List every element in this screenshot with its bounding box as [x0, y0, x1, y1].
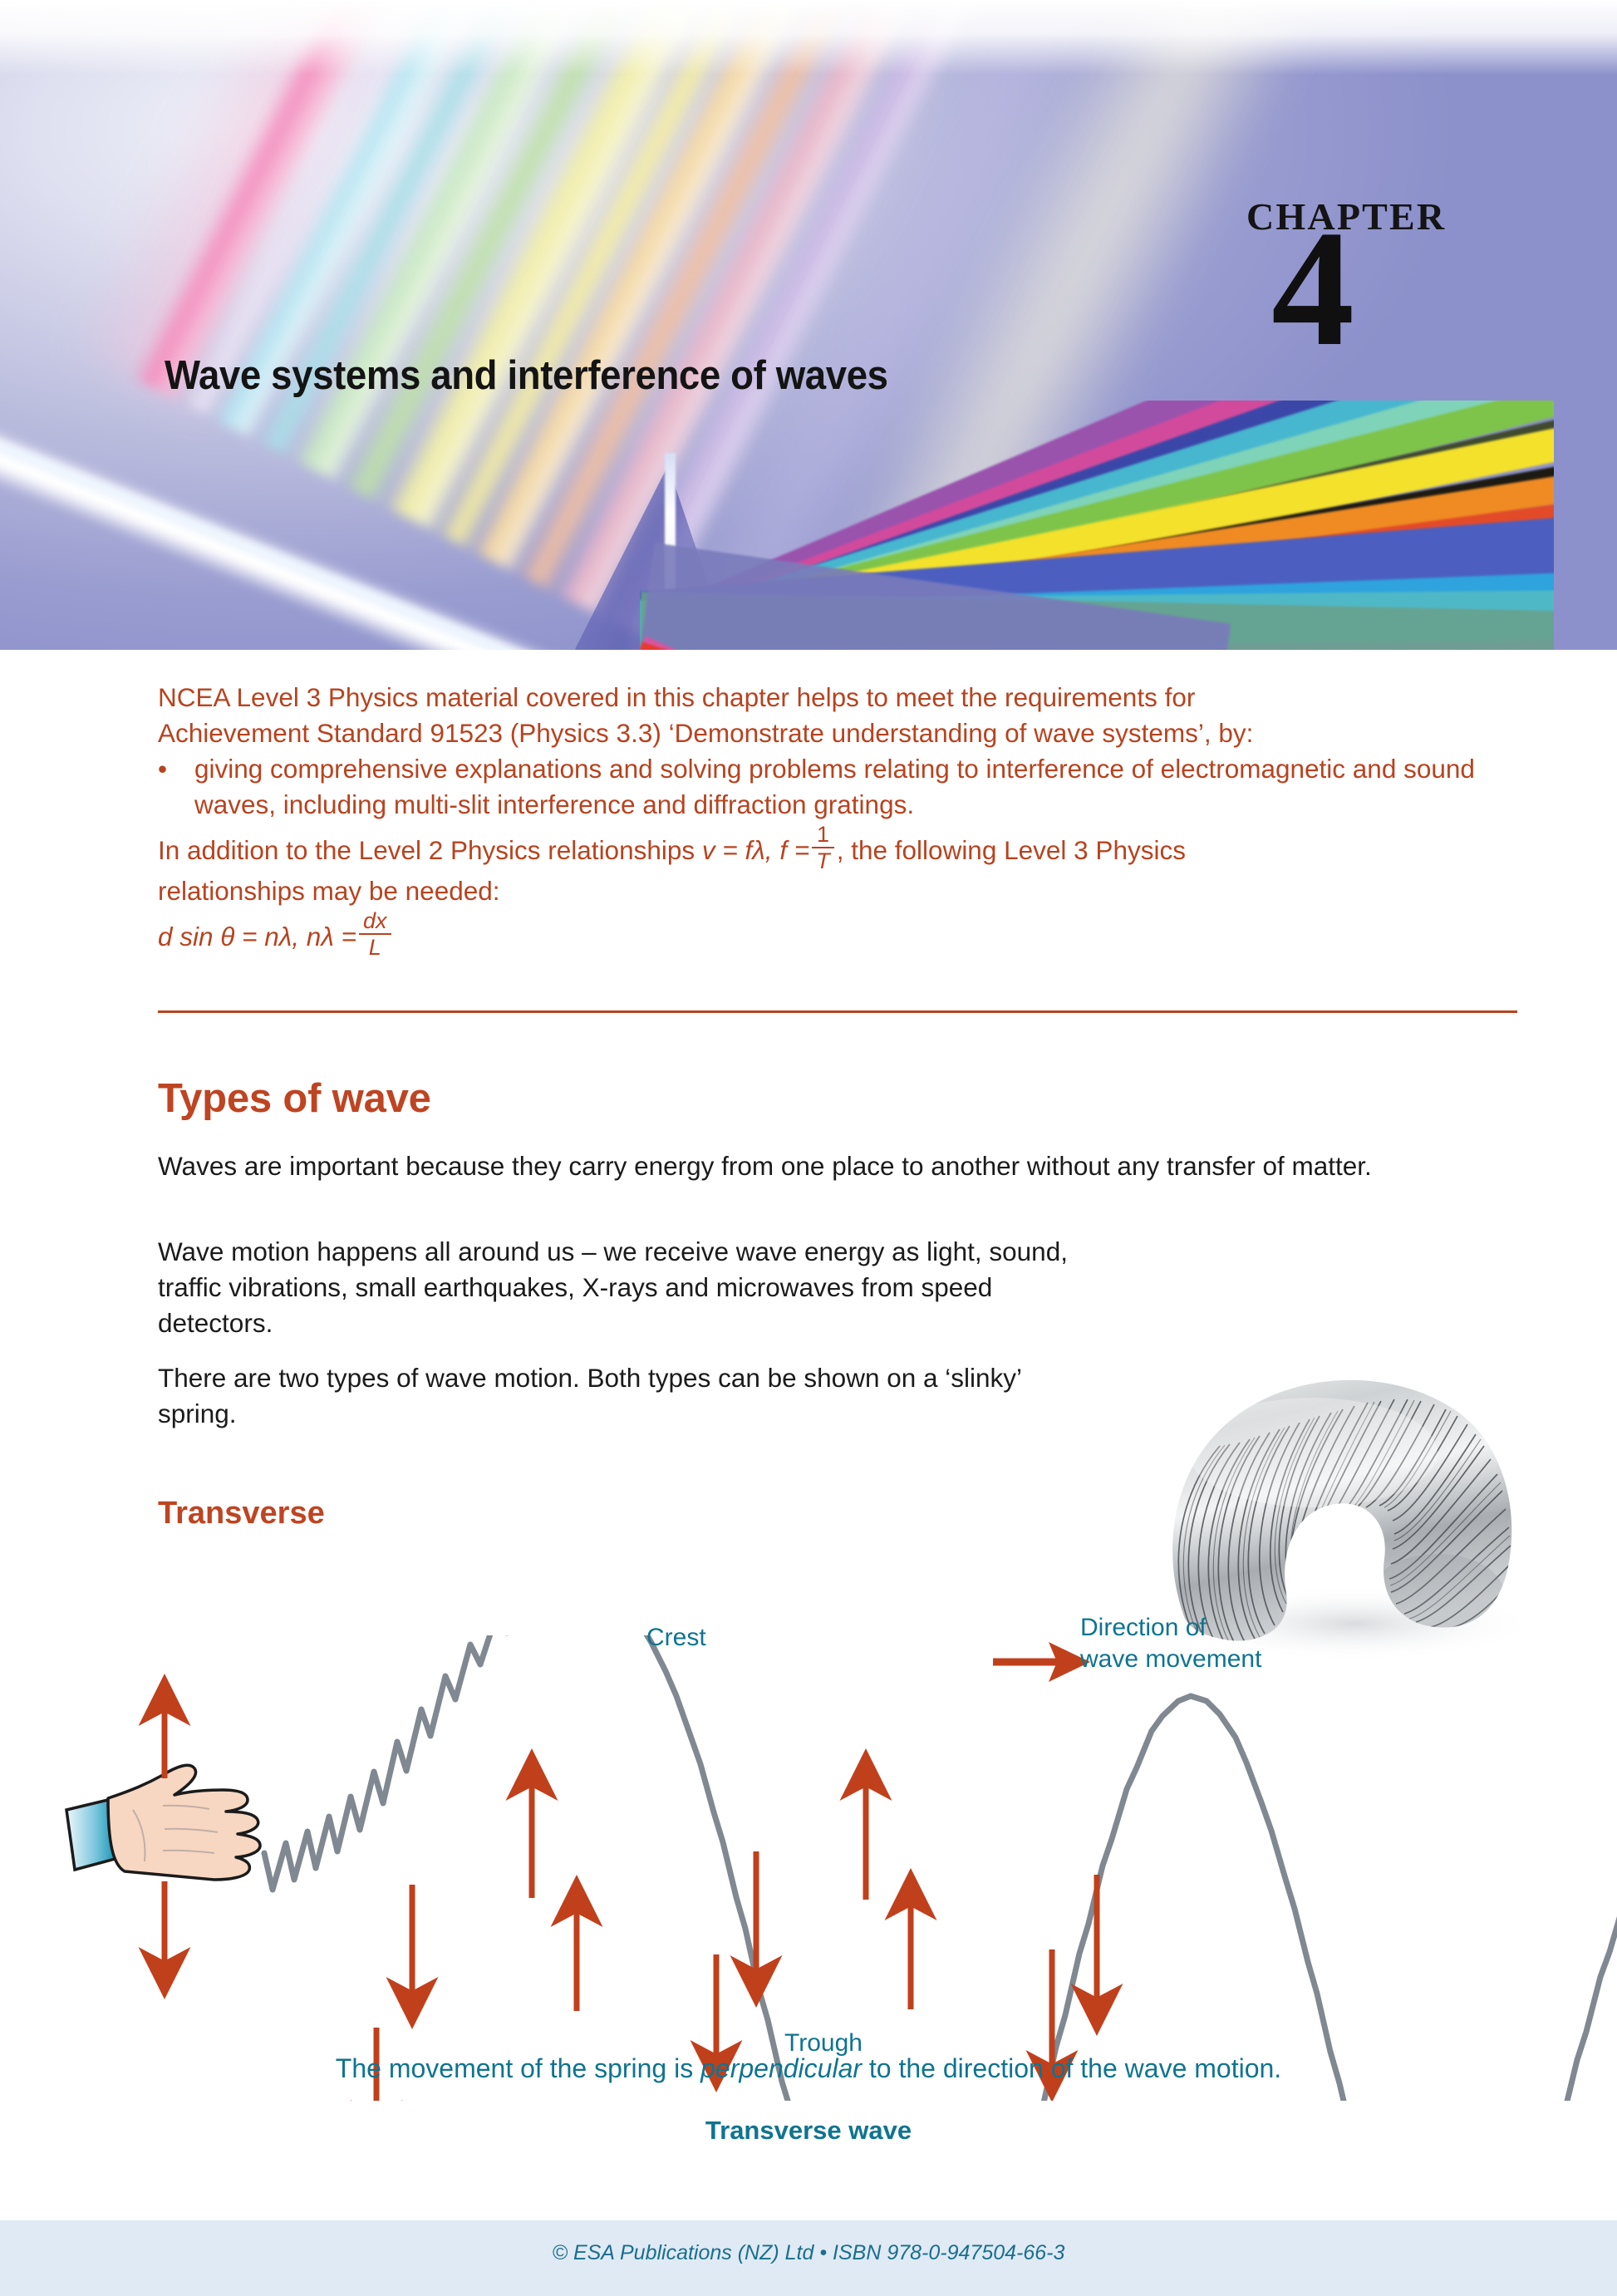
intro-line-2: Achievement Standard 91523 (Physics 3.3)…	[158, 715, 1521, 751]
fraction-one-over-T: 1T	[812, 823, 834, 873]
diagram-caption-title: Transverse wave	[0, 2116, 1617, 2146]
formula-d-sin-theta: d sin θ = nλ, nλ =	[158, 922, 356, 951]
dispersed-spectrum-fan	[640, 401, 1554, 650]
paragraph-two-types: There are two types of wave motion. Both…	[158, 1360, 1105, 1432]
subheading-transverse: Transverse	[158, 1496, 325, 1531]
transverse-wave-diagram: Crest Trough Direction of wave movement	[0, 1635, 1617, 2101]
standard-requirements-block: NCEA Level 3 Physics material covered in…	[158, 680, 1521, 959]
bullet-dot-icon: •	[158, 751, 194, 823]
formula-v-equals-f-lambda: v = fλ,	[702, 835, 773, 865]
chapter-banner: CHAPTER 4 Wave systems and interference …	[0, 0, 1617, 650]
slinky-wave-path	[264, 1635, 1617, 2101]
caption-part-2: to the direction of the wave motion.	[862, 2053, 1281, 2083]
relationships-paragraph: In addition to the Level 2 Physics relat…	[158, 823, 1521, 873]
paragraph-wave-motion: Wave motion happens all around us – we r…	[158, 1234, 1105, 1341]
formula-line: d sin θ = nλ, nλ =dxL	[158, 909, 1521, 960]
footer-copyright: © ESA Publications (NZ) Ltd • ISBN 978-0…	[0, 2241, 1617, 2265]
fraction-denominator-L: L	[359, 935, 391, 959]
chapter-number: 4	[1271, 206, 1354, 372]
intro-bullet-text: giving comprehensive explanations and so…	[194, 751, 1521, 823]
label-direction-line-1: Direction of	[1080, 1612, 1261, 1644]
label-direction-line-2: wave movement	[1080, 1644, 1261, 1675]
intro-bullet-item: • giving comprehensive explanations and …	[158, 751, 1521, 823]
diagram-caption-sentence: The movement of the spring is perpendicu…	[0, 2053, 1617, 2084]
fraction-numerator-dx: dx	[359, 909, 391, 935]
fraction-dx-over-L: dxL	[359, 909, 391, 960]
paragraph-waves-important: Waves are important because they carry e…	[158, 1148, 1521, 1184]
vibration-arrows	[165, 1708, 1097, 2101]
fraction-denominator: T	[812, 848, 834, 873]
formula-f-equals: f =	[779, 835, 809, 865]
caption-italic-word: perpendicular	[700, 2053, 862, 2083]
page-title: Wave systems and interference of waves	[165, 352, 888, 399]
section-divider-rule	[158, 1010, 1517, 1013]
relationships-tail: , the following Level 3 Physics	[837, 835, 1186, 865]
label-crest: Crest	[646, 1622, 706, 1654]
banner-top-fade	[0, 0, 1617, 75]
fraction-numerator: 1	[812, 823, 834, 848]
hand-illustration	[66, 1765, 260, 1880]
intro-line-1: NCEA Level 3 Physics material covered in…	[158, 680, 1521, 715]
caption-part-1: The movement of the spring is	[336, 2053, 700, 2083]
section-heading-types-of-wave: Types of wave	[158, 1075, 431, 1122]
label-direction-of-wave-movement: Direction of wave movement	[1080, 1612, 1261, 1675]
relationships-tail2: relationships may be needed:	[158, 873, 1521, 909]
relationships-lead: In addition to the Level 2 Physics relat…	[158, 835, 695, 865]
wave-direction-arrow	[993, 1642, 1090, 1682]
